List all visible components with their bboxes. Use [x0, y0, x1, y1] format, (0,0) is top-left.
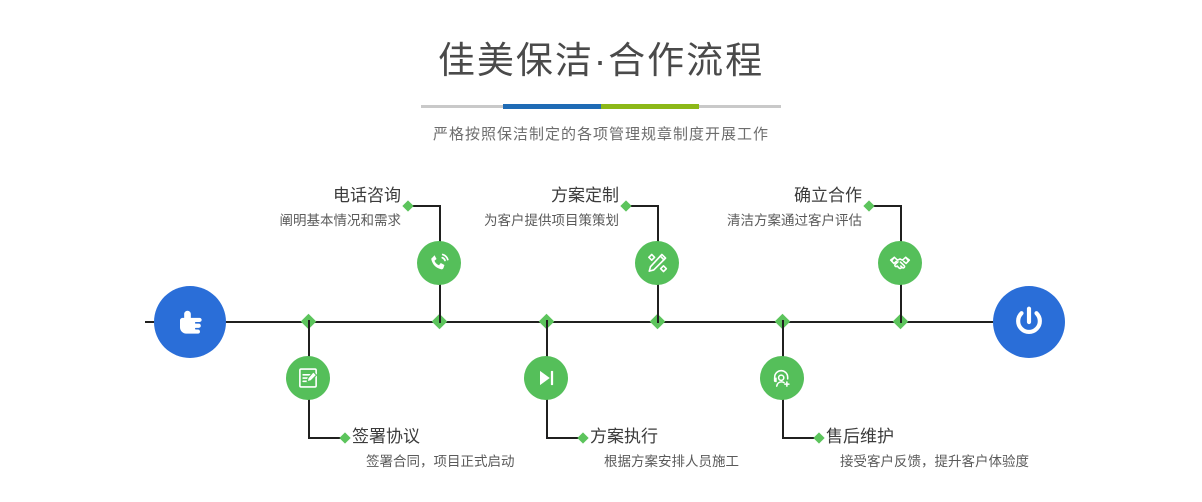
step-title-5: 确立合作	[655, 186, 862, 206]
label-marker-step-5	[863, 200, 874, 211]
title-divider	[421, 105, 781, 108]
timeline-axis	[145, 321, 1057, 323]
step-desc-2: 签署合同，项目正式启动	[366, 454, 582, 470]
step-desc-5: 清洁方案通过客户评估	[655, 213, 862, 229]
step-desc-4: 根据方案安排人员施工	[604, 454, 820, 470]
step-label-6: 售后维护 接受客户反馈，提升客户体验度	[826, 427, 1076, 469]
step-label-4: 方案执行 根据方案安排人员施工	[590, 427, 820, 469]
document-edit-icon	[295, 365, 321, 391]
start-node[interactable]	[154, 286, 226, 358]
divider-segment-green	[601, 104, 699, 109]
header: 佳美保洁·合作流程 严格按照保洁制定的各项管理规章制度开展工作	[0, 0, 1202, 144]
step-desc-1: 阐明基本情况和需求	[195, 213, 401, 229]
step-icon-4[interactable]	[524, 356, 568, 400]
step-title-3: 方案定制	[410, 186, 619, 206]
pointing-hand-icon	[170, 302, 210, 342]
step-icon-5[interactable]	[878, 241, 922, 285]
page-subtitle: 严格按照保洁制定的各项管理规章制度开展工作	[0, 123, 1202, 144]
power-icon	[1009, 302, 1049, 342]
step-title-1: 电话咨询	[195, 186, 401, 206]
step-label-5: 确立合作 清洁方案通过客户评估	[655, 186, 862, 228]
end-node[interactable]	[993, 286, 1065, 358]
divider-segment-blue	[503, 104, 601, 109]
step-icon-6[interactable]	[760, 356, 804, 400]
page-title: 佳美保洁·合作流程	[0, 42, 1202, 79]
step-label-1: 电话咨询 阐明基本情况和需求	[195, 186, 401, 228]
flow-diagram: 佳美保洁·合作流程 严格按照保洁制定的各项管理规章制度开展工作	[0, 0, 1202, 502]
step-title-6: 售后维护	[826, 427, 1076, 447]
step-icon-1[interactable]	[417, 241, 461, 285]
headset-add-icon	[769, 365, 795, 391]
label-marker-step-2	[339, 432, 350, 443]
step-icon-3[interactable]	[635, 241, 679, 285]
step-icon-2[interactable]	[286, 356, 330, 400]
play-skip-icon	[534, 366, 558, 390]
label-marker-step-3	[620, 200, 631, 211]
pencil-design-icon	[644, 250, 670, 276]
step-desc-6: 接受客户反馈，提升客户体验度	[840, 454, 1076, 470]
handshake-icon	[887, 250, 913, 276]
phone-call-icon	[426, 250, 452, 276]
step-desc-3: 为客户提供项目策策划	[410, 213, 619, 229]
step-label-3: 方案定制 为客户提供项目策策划	[410, 186, 619, 228]
